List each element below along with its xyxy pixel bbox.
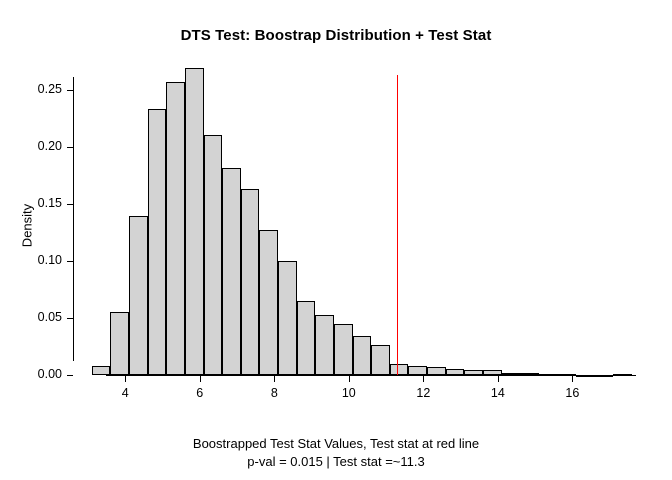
y-tick-label: 0.10: [0, 253, 62, 267]
x-tick-label: 6: [180, 386, 220, 400]
x-tick-label: 4: [105, 386, 145, 400]
histogram-bar: [464, 370, 483, 375]
x-tick-label: 12: [403, 386, 443, 400]
y-tick-label: 0.25: [0, 82, 62, 96]
y-tick-label: 0.20: [0, 139, 62, 153]
y-axis-line: [73, 77, 74, 361]
histogram-bars: [86, 70, 626, 373]
plot-panel: [86, 70, 626, 373]
histogram-bar: [259, 230, 278, 375]
histogram-bar: [427, 367, 446, 375]
x-axis-subcaption: p-val = 0.015 | Test stat =~11.3: [0, 454, 672, 469]
histogram-bar: [483, 370, 502, 375]
histogram-bar: [334, 324, 353, 375]
histogram-bar: [539, 374, 558, 376]
x-tick: [349, 376, 350, 382]
y-tick: [67, 204, 73, 205]
x-tick-label: 14: [478, 386, 518, 400]
x-tick: [274, 376, 275, 382]
histogram-bar: [390, 364, 409, 375]
histogram-bar: [278, 261, 297, 375]
histogram-bar: [557, 374, 576, 376]
x-tick: [572, 376, 573, 382]
y-tick-label: 0.05: [0, 310, 62, 324]
histogram-bar: [353, 336, 372, 375]
histogram-bar: [110, 312, 129, 375]
x-tick: [125, 376, 126, 382]
histogram-bar: [315, 315, 334, 375]
x-tick-label: 8: [254, 386, 294, 400]
x-tick-label: 16: [552, 386, 592, 400]
x-tick: [498, 376, 499, 382]
histogram-bar: [446, 369, 465, 375]
y-tick: [67, 147, 73, 148]
y-tick: [67, 90, 73, 91]
histogram-bar: [520, 373, 539, 375]
histogram-bar: [371, 345, 390, 375]
histogram-bar: [166, 82, 185, 375]
y-tick: [67, 261, 73, 262]
histogram-bar: [222, 168, 241, 375]
y-tick-label: 0.00: [0, 367, 62, 381]
y-axis-label: Density: [20, 166, 35, 286]
histogram-bar: [92, 366, 111, 375]
chart-title: DTS Test: Boostrap Distribution + Test S…: [0, 27, 672, 44]
histogram-bar: [408, 366, 427, 375]
histogram-bar: [129, 216, 148, 375]
chart-container: DTS Test: Boostrap Distribution + Test S…: [0, 0, 672, 480]
histogram-bar: [576, 375, 595, 377]
test-stat-line: [397, 75, 398, 375]
x-tick: [200, 376, 201, 382]
y-tick-label: 0.15: [0, 196, 62, 210]
histogram-bar: [297, 301, 316, 375]
histogram-bar: [241, 189, 260, 375]
y-tick: [67, 375, 73, 376]
x-axis-label: Boostrapped Test Stat Values, Test stat …: [0, 436, 672, 451]
x-tick: [423, 376, 424, 382]
x-tick-label: 10: [329, 386, 369, 400]
histogram-bar: [502, 373, 521, 375]
histogram-bar: [595, 375, 614, 377]
histogram-bar: [148, 109, 167, 375]
histogram-bar: [204, 135, 223, 375]
histogram-bar: [185, 68, 204, 375]
histogram-bar: [613, 374, 632, 376]
y-tick: [67, 318, 73, 319]
